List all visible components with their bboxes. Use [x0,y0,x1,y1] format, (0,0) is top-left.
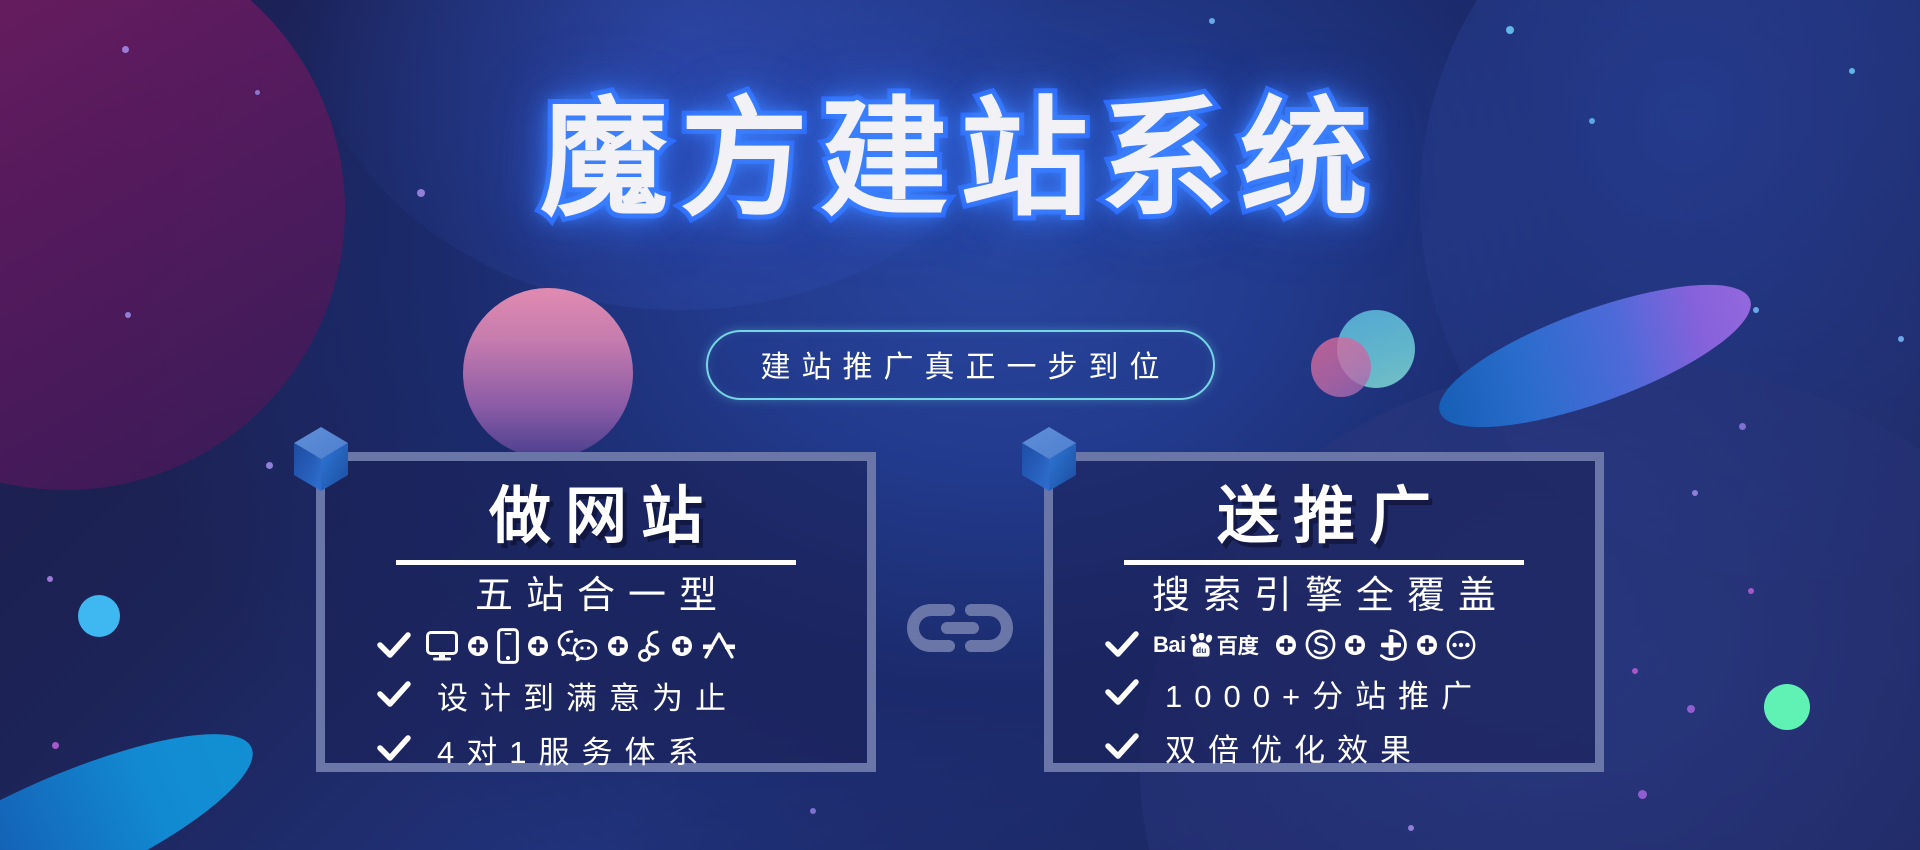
feature-box-make-website[interactable]: 做网站 五站合一型 [316,452,876,772]
baidu-logo-icon: Bai du 百度 [1153,630,1259,660]
platform-icons [425,628,737,664]
star-dot [1753,307,1759,313]
box-title: 做网站 [351,483,841,548]
check-icon [1105,630,1139,660]
subtitle-container: 建站推广真正一步到位 [0,330,1920,400]
purple-blob-decoration [0,0,345,490]
feature-row: 双倍优化效果 [1105,725,1569,770]
plus-icon [607,635,629,657]
star-dot [125,312,131,318]
plus-icon [1344,634,1366,656]
check-icon [377,734,411,764]
feature-text: 双倍优化效果 [1153,725,1423,770]
platform-icon-row [377,628,841,664]
baidu-paw-icon: du [1188,633,1215,657]
feature-row: 设计到满意为止 [377,673,841,718]
page-title: 魔方建站系统 [540,88,1380,231]
cube-icon [1018,425,1080,495]
feature-text: 1000+分站推广 [1153,671,1484,716]
box-title: 送推广 [1079,483,1569,548]
plus-icon [1275,634,1297,656]
check-icon [1105,678,1139,708]
plus-icon [1416,634,1438,656]
star-dot [810,808,816,814]
baidu-latin-text: Bai [1153,632,1186,658]
app-store-icon [701,630,737,662]
feature-row: 1000+分站推广 [1105,671,1569,716]
baidu-cjk-text: 百度 [1217,630,1259,660]
title-underline [396,560,796,565]
feature-box-free-promotion[interactable]: 送推广 搜索引擎全覆盖 Bai [1044,452,1604,772]
star-dot [1739,423,1746,430]
promo-banner: 魔方建站系统 建站推广真正一步到位 [0,0,1920,850]
subtitle-badge: 建站推广真正一步到位 [706,330,1215,400]
star-dot [1849,68,1855,74]
star-dot [1638,790,1647,799]
star-dot [1506,26,1514,34]
music-note-icon [637,629,663,663]
feature-row: 4对1服务体系 [377,727,841,772]
title-underline [1124,560,1524,565]
more-ellipsis-icon [1446,630,1476,660]
qihoo360-icon [1374,628,1408,662]
sogou-icon [1305,629,1336,660]
star-dot [1408,825,1414,831]
box-subtitle: 五站合一型 [351,575,841,619]
wechat-icon [557,629,599,663]
feature-text: 4对1服务体系 [425,727,710,772]
baidu-du-text: du [1196,645,1206,655]
cube-icon [290,425,352,495]
star-dot [122,46,129,53]
smartphone-icon [497,628,519,664]
plus-icon [527,635,549,657]
check-icon [377,680,411,710]
box-subtitle: 搜索引擎全覆盖 [1079,575,1569,619]
plus-icon [467,635,489,657]
plus-icon [671,635,693,657]
search-engine-icons: Bai du 百度 [1153,628,1476,662]
feature-text: 设计到满意为止 [425,673,738,718]
star-dot [1209,18,1215,24]
check-icon [377,631,411,661]
desktop-monitor-icon [425,630,459,662]
headline-container: 魔方建站系统 [0,88,1920,231]
chain-link-icon [905,598,1015,658]
check-icon [1105,732,1139,762]
search-engine-icon-row: Bai du 百度 [1105,628,1569,662]
